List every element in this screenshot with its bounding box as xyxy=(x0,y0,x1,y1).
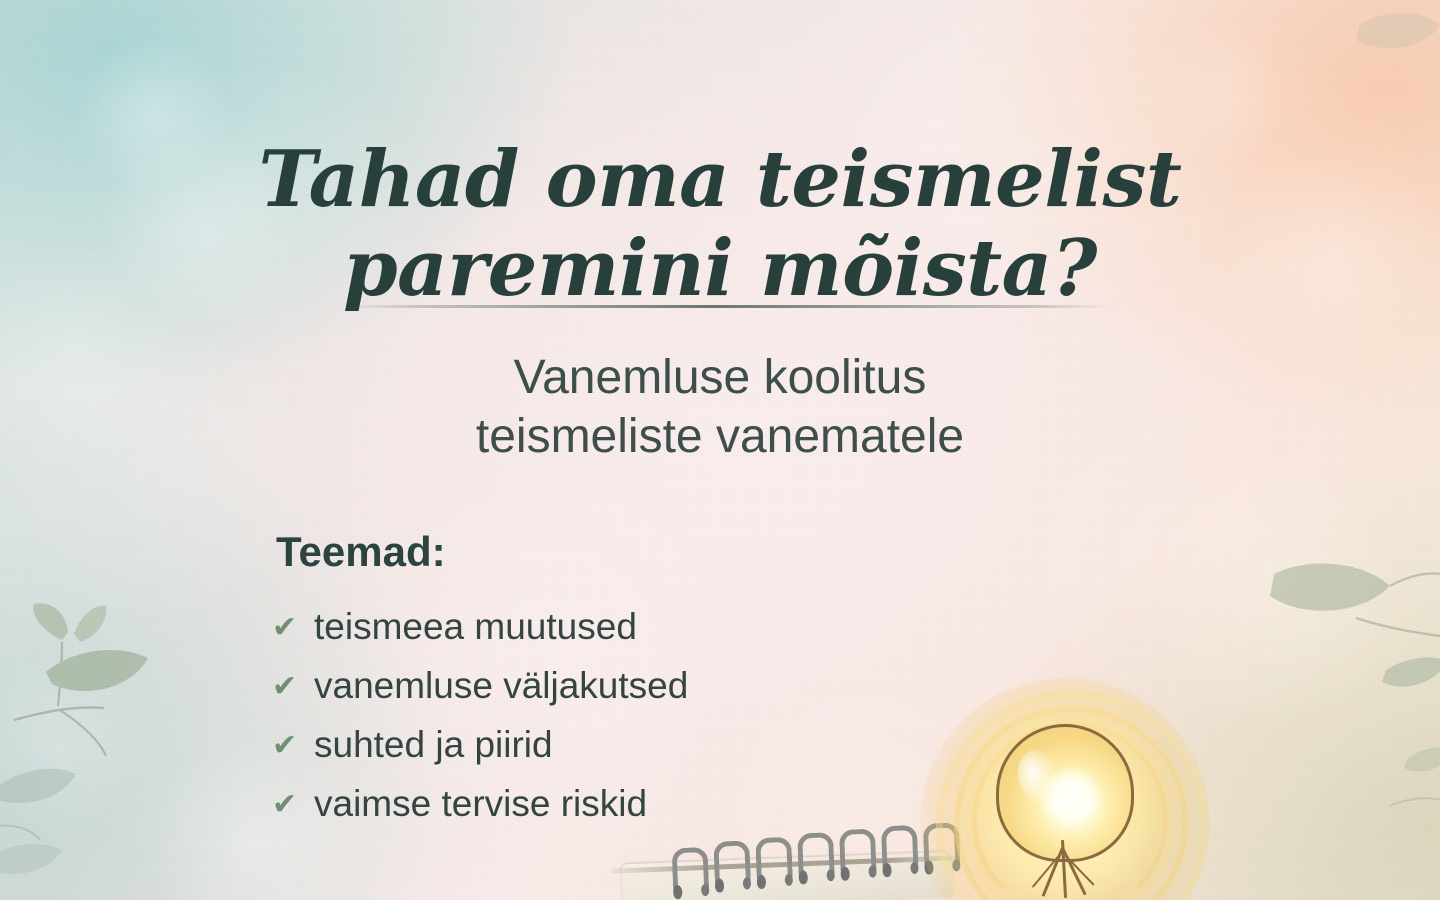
list-item: ✔ vanemluse väljakutsed xyxy=(272,667,688,726)
bulb-hotspot xyxy=(1040,768,1102,830)
bulb-filament xyxy=(1032,851,1063,888)
check-icon: ✔ xyxy=(272,672,302,702)
check-icon: ✔ xyxy=(272,790,302,820)
leaf-small-icon xyxy=(1330,0,1440,120)
topics-list: ✔ teismeea muutused ✔ vanemluse väljakut… xyxy=(272,608,688,844)
topic-label: vaimse tervise riskid xyxy=(314,785,647,822)
bulb-glow-ring xyxy=(936,690,1208,900)
page-title: Tahad oma teismelist paremini mõista? xyxy=(0,136,1440,314)
foliage-right xyxy=(1240,520,1440,850)
subtitle-line-1: Vanemluse koolitus xyxy=(514,351,927,404)
headline-line-2: paremini mõista? xyxy=(0,225,1440,314)
leaf-sprig-left-icon xyxy=(0,560,220,900)
headline-line-1: Tahad oma teismelist xyxy=(259,134,1182,225)
bulb-glow xyxy=(920,678,1210,900)
bulb-highlight xyxy=(1011,745,1066,809)
spiral-ring xyxy=(881,825,919,867)
foliage-top-right xyxy=(1330,0,1440,120)
check-icon: ✔ xyxy=(272,613,302,643)
topic-label: suhted ja piirid xyxy=(314,726,553,763)
bokeh-circle xyxy=(0,660,140,830)
list-item: ✔ suhted ja piirid xyxy=(272,726,688,785)
topics-heading: Teemad: xyxy=(276,531,446,573)
bulb-glow-ring xyxy=(954,706,1188,900)
spiral-ring xyxy=(713,840,751,882)
check-icon: ✔ xyxy=(272,731,302,761)
bulb-filament xyxy=(1061,847,1086,895)
subtitle: Vanemluse koolitus teismeliste vanematel… xyxy=(0,348,1440,466)
bulb-glass xyxy=(996,724,1134,862)
bokeh-circle xyxy=(1150,470,1400,720)
bulb-filament xyxy=(1061,851,1094,885)
subtitle-line-2: teismeliste vanematele xyxy=(0,407,1440,466)
spiral-ring xyxy=(672,847,710,889)
list-item: ✔ teismeea muutused xyxy=(272,608,688,667)
divider xyxy=(345,305,1110,308)
foliage-left xyxy=(0,560,220,900)
bulb-filament xyxy=(1061,840,1067,898)
spiral-ring xyxy=(923,822,961,864)
poster-canvas: Tahad oma teismelist paremini mõista? Va… xyxy=(0,0,1440,900)
leaf-sprig-right-icon xyxy=(1240,520,1440,850)
topic-label: teismeea muutused xyxy=(314,608,637,645)
topic-label: vanemluse väljakutsed xyxy=(314,667,688,704)
spiral-ring xyxy=(839,829,877,871)
bulb-filament xyxy=(1042,847,1064,896)
spiral-ring xyxy=(797,832,835,874)
spiral-ring xyxy=(755,837,793,879)
bulb-glow-ring xyxy=(972,722,1168,900)
